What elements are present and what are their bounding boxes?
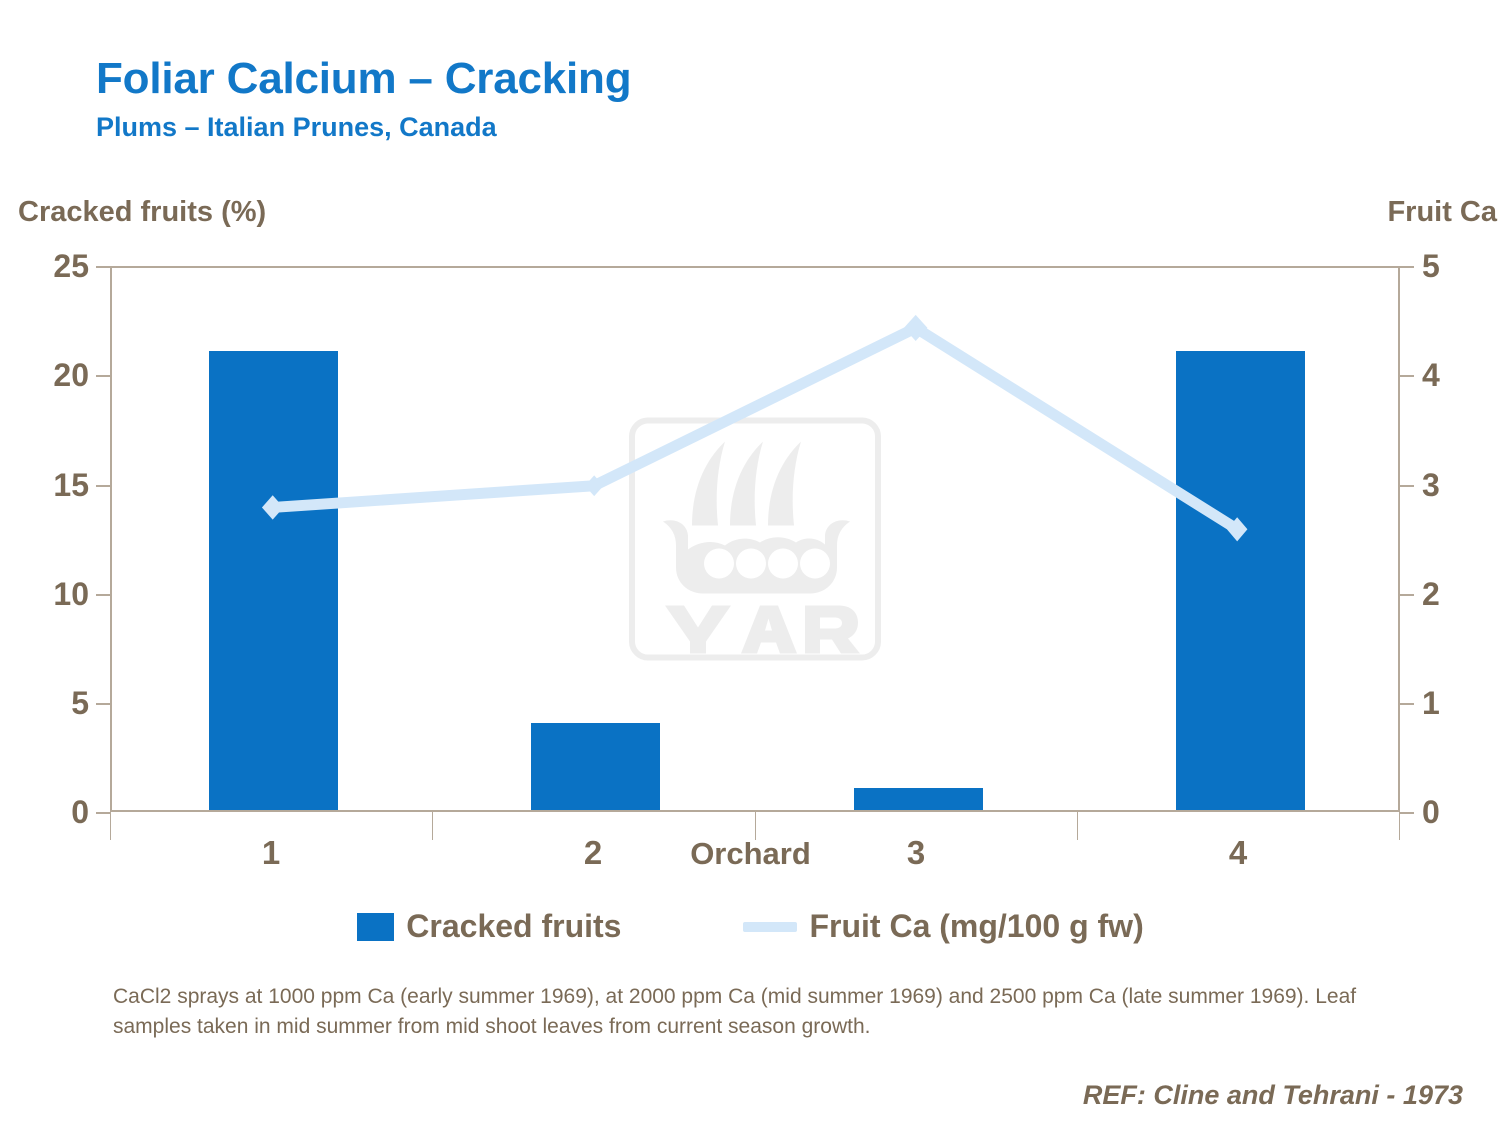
title-block: Foliar Calcium – Cracking Plums – Italia… (96, 56, 631, 143)
y2-axis-tick-label: 2 (1422, 578, 1492, 610)
legend-label-cracked-fruits: Cracked fruits (406, 908, 621, 945)
plot-inner (112, 268, 1398, 810)
y-axis-tick-label: 20 (19, 359, 89, 391)
x-axis-title: Orchard (0, 836, 1501, 872)
right-axis-title: Fruit Ca (1387, 196, 1497, 229)
y2-axis-tick-label: 1 (1422, 687, 1492, 719)
chart-plot-area (110, 266, 1400, 812)
legend-bar-swatch-icon (357, 913, 394, 941)
y-axis-tickmark (96, 266, 110, 268)
slide-root: Foliar Calcium – Cracking Plums – Italia… (0, 0, 1501, 1125)
reference-text: REF: Cline and Tehrani - 1973 (1083, 1080, 1463, 1111)
y2-axis-tickmark (1400, 266, 1414, 268)
page-subtitle: Plums – Italian Prunes, Canada (96, 112, 631, 143)
y2-axis-tick-label: 0 (1422, 796, 1492, 828)
legend-item-cracked-fruits[interactable]: Cracked fruits (357, 908, 621, 945)
footnote-text: CaCl2 sprays at 1000 ppm Ca (early summe… (113, 982, 1403, 1043)
fruit-ca-line-series (112, 268, 1398, 812)
y2-axis-tickmark (1400, 594, 1414, 596)
y2-axis-tickmark (1400, 703, 1414, 705)
y-axis-tickmark (96, 703, 110, 705)
page-title: Foliar Calcium – Cracking (96, 56, 631, 102)
y-axis-tick-label: 5 (19, 687, 89, 719)
y-axis-tickmark (96, 375, 110, 377)
legend-label-fruit-ca: Fruit Ca (mg/100 g fw) (809, 908, 1143, 945)
y2-axis-tick-label: 3 (1422, 469, 1492, 501)
legend-item-fruit-ca[interactable]: Fruit Ca (mg/100 g fw) (743, 908, 1143, 945)
y2-axis-tickmark (1400, 375, 1414, 377)
y-axis-tick-label: 15 (19, 469, 89, 501)
y-axis-tickmark (96, 485, 110, 487)
y-axis-tick-label: 0 (19, 796, 89, 828)
y2-axis-tickmark (1400, 485, 1414, 487)
chart-legend: Cracked fruits Fruit Ca (mg/100 g fw) (0, 908, 1501, 945)
y-axis-tick-label: 10 (19, 578, 89, 610)
y2-axis-tick-label: 4 (1422, 359, 1492, 391)
left-axis-title: Cracked fruits (%) (18, 196, 266, 229)
y-axis-tick-label: 25 (19, 250, 89, 282)
legend-line-swatch-icon (743, 922, 797, 932)
y-axis-tickmark (96, 812, 110, 814)
y2-axis-tick-label: 5 (1422, 250, 1492, 282)
y2-axis-tickmark (1400, 812, 1414, 814)
y-axis-tickmark (96, 594, 110, 596)
